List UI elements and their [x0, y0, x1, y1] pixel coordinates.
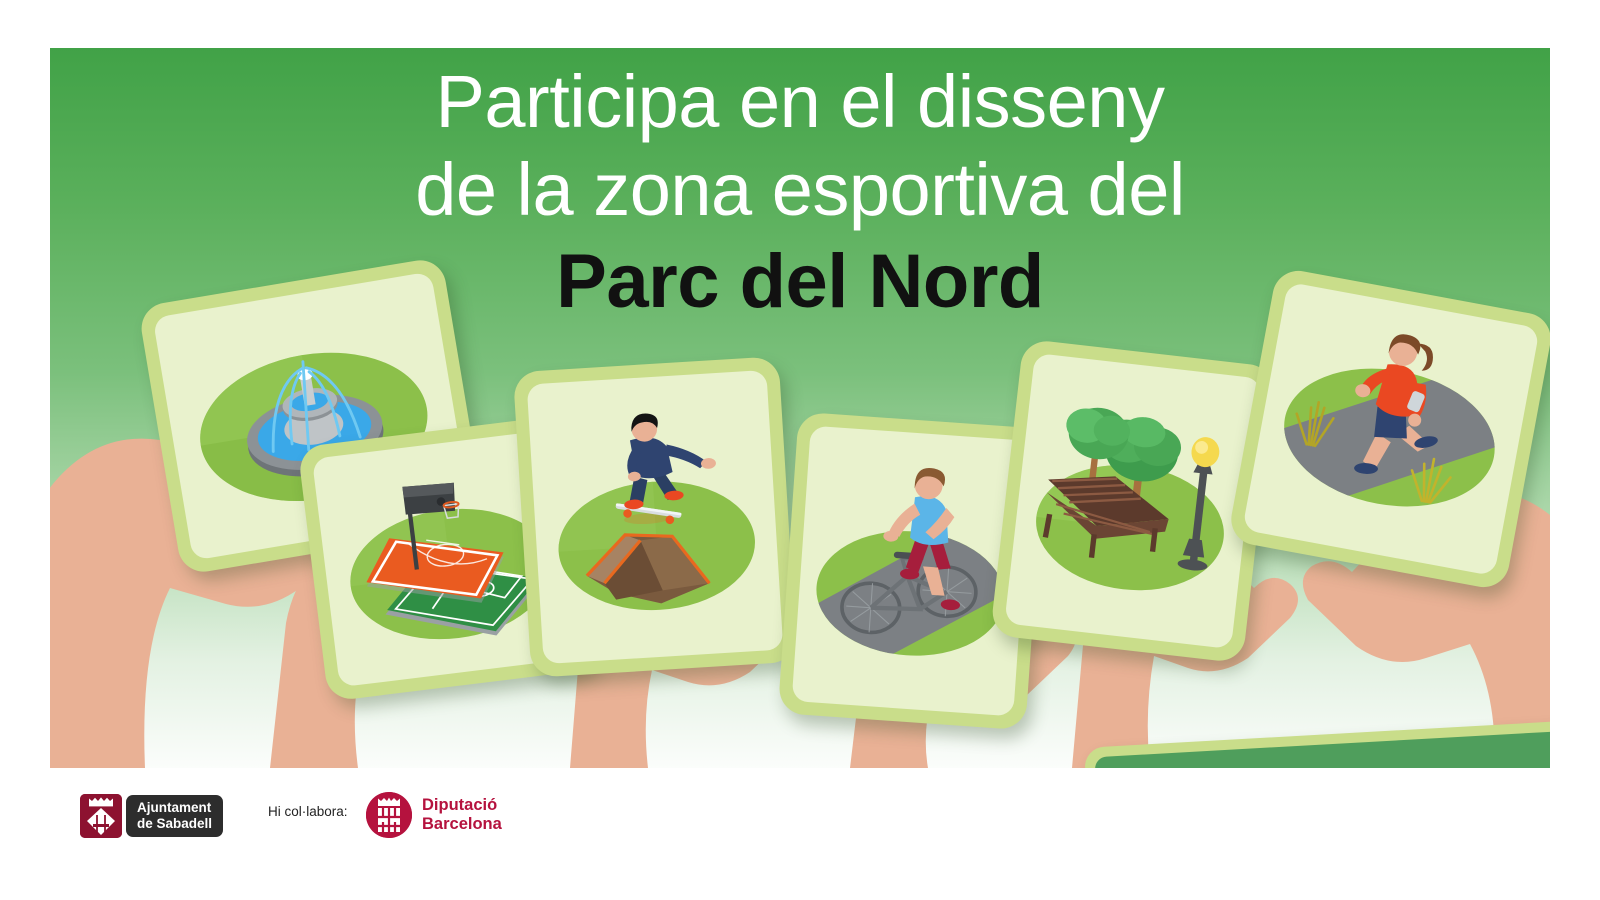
- footer: Ajuntament de Sabadell Hi col·labora:: [0, 768, 1600, 900]
- diputacio-name-block: Diputació Barcelona: [422, 796, 502, 834]
- green-panel: Participa en el disseny de la zona espor…: [50, 48, 1550, 768]
- sabadell-crest-icon: [80, 794, 122, 838]
- card-runner[interactable]: [1227, 267, 1550, 592]
- skatepark-illustration: [527, 370, 784, 664]
- banner-root: Participa en el disseny de la zona espor…: [0, 0, 1600, 900]
- card-bench-inner: [1004, 353, 1261, 649]
- card-runner-inner: [1242, 282, 1540, 576]
- runner-illustration: [1242, 282, 1540, 576]
- ajuntament-sabadell-logo[interactable]: Ajuntament de Sabadell: [80, 794, 223, 838]
- diputacio-line-2: Barcelona: [422, 815, 502, 834]
- diputacio-barcelona-logo[interactable]: Diputació Barcelona: [366, 792, 502, 838]
- card-skate-inner: [527, 370, 784, 664]
- ajuntament-name-block: Ajuntament de Sabadell: [126, 795, 223, 837]
- diputacio-line-1: Diputació: [422, 796, 502, 815]
- diputacio-crest-icon: [366, 792, 412, 838]
- ajuntament-line-1: Ajuntament: [137, 800, 212, 816]
- collaborator-label: Hi col·labora:: [268, 804, 348, 819]
- ajuntament-line-2: de Sabadell: [137, 816, 212, 832]
- card-skate[interactable]: [513, 356, 797, 678]
- park-bench-illustration: [1004, 353, 1261, 649]
